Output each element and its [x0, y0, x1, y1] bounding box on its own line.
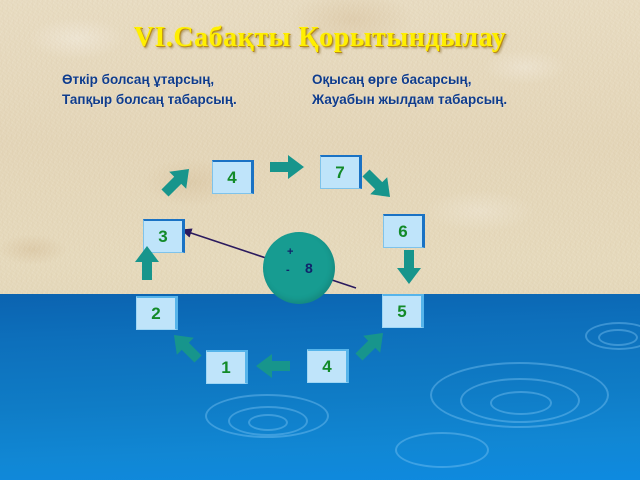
number-box-label: 4 [322, 357, 331, 377]
water-ripple [248, 414, 288, 431]
arrow-right-four-to-seven [268, 152, 306, 182]
number-box-label: 2 [151, 304, 160, 324]
number-box-label: 4 [227, 168, 236, 188]
number-box-label: 7 [335, 163, 344, 183]
number-box-label: 1 [221, 358, 230, 378]
center-value: 8 [305, 260, 313, 276]
arrow-up-three [132, 244, 162, 282]
water-ripple [395, 432, 489, 468]
subtitle-left: Өткір болсаң ұтарсың, Тапқыр болсаң таба… [62, 70, 237, 110]
arrow-left-four-to-one [254, 351, 292, 381]
water-ripple [598, 329, 638, 346]
minus-sign: - [286, 264, 290, 276]
arrow-down-six-to-five [394, 248, 424, 286]
water-background [0, 294, 640, 480]
number-box-right-lower[interactable]: 5 [382, 294, 424, 328]
subtitle-right: Оқысаң өрге басарсың, Жауабын жылдам таб… [312, 70, 507, 110]
page-title: VI.Сабақты Қорытындылау [0, 22, 640, 54]
plus-sign: + [287, 246, 293, 258]
number-box-bottom-right[interactable]: 4 [307, 349, 349, 383]
center-operation-circle[interactable]: + - 8 [263, 232, 335, 304]
number-box-right-upper[interactable]: 6 [383, 214, 425, 248]
number-box-left-lower[interactable]: 2 [136, 296, 178, 330]
number-box-label: 6 [398, 222, 407, 242]
number-box-top-left[interactable]: 4 [212, 160, 254, 194]
number-box-label: 5 [397, 302, 406, 322]
slide-canvas: VI.Сабақты Қорытындылау Өткір болсаң ұта… [0, 0, 640, 480]
number-box-bottom-left[interactable]: 1 [206, 350, 248, 384]
water-ripple [490, 391, 552, 415]
